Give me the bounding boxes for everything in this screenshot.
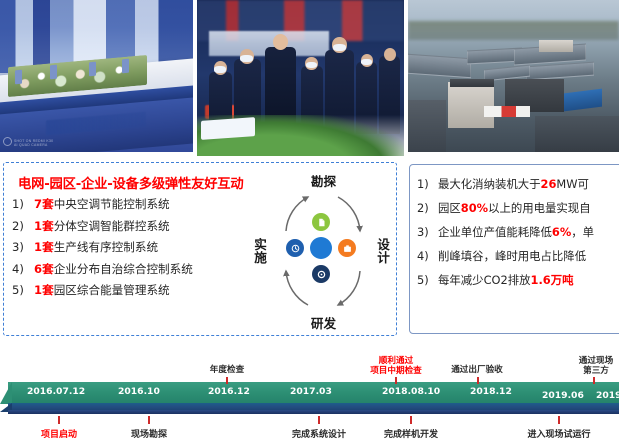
timeline-tick — [226, 377, 228, 384]
list-item: 1) 7 套 中央空调节能控制系统 — [12, 197, 262, 211]
node-navy-gear — [312, 265, 330, 283]
list-item-highlight: 26 — [541, 178, 557, 192]
timeline-date: 2019.06 — [542, 390, 584, 401]
camera-watermark-icon — [3, 137, 12, 146]
timeline-tick — [58, 416, 60, 424]
node-blue-clock — [286, 239, 304, 257]
list-item: 2) 1 套 分体空调智能群控系统 — [12, 219, 262, 233]
list-item-number: 2) — [417, 202, 438, 216]
timeline-phase-label: 现场勘探 — [124, 427, 174, 440]
list-item-text: 中央空调节能控制系统 — [54, 197, 170, 211]
list-item-unit: 套 — [42, 219, 54, 233]
list-item-highlight: 1.6万吨 — [531, 274, 574, 288]
delegation-visit-photo — [197, 0, 404, 156]
timeline-tick — [318, 416, 320, 424]
timeline-phase-label: 进入现场试运行 — [523, 427, 595, 440]
node-green-document — [312, 213, 330, 231]
timeline-date: 2019.1 — [596, 390, 619, 401]
list-item-pre: 削峰填谷，峰时用电占比降低 — [438, 250, 586, 264]
timeline-date: 2016.07.12 — [27, 386, 85, 397]
list-item-number: 4) — [417, 250, 438, 264]
left-panel-list: 1) 7 套 中央空调节能控制系统 2) 1 套 分体空调智能群控系统 3) 1… — [12, 197, 262, 305]
list-item-highlight: 6% — [552, 226, 571, 240]
timeline-milestone-label: 通过出厂验收 — [444, 366, 510, 376]
timeline-date: 2018.08.10 — [382, 386, 440, 397]
list-item-number: 5) — [417, 274, 438, 288]
left-panel-title: 电网-园区-企业-设备多级弹性友好互动 — [18, 173, 274, 192]
timeline-milestone-label: 通过现场 第三方 — [566, 357, 619, 377]
list-item-qty: 1 — [34, 219, 42, 233]
list-item: 3) 1 套 生产线有序控制系统 — [12, 240, 262, 254]
timeline-tick — [410, 416, 412, 424]
list-item: 4) 6 套 企业分布自治综合控制系统 — [12, 262, 262, 276]
timeline-phase-label: 完成系统设计 — [288, 427, 350, 440]
list-item-pre: 最大化消纳装机大于 — [438, 178, 541, 192]
list-item-qty: 1 — [34, 240, 42, 254]
list-item-number: 5) — [12, 283, 34, 297]
left-panel: 电网-园区-企业-设备多级弹性友好互动 1) 7 套 中央空调节能控制系统 2)… — [3, 162, 397, 336]
list-item-unit: 套 — [42, 240, 54, 254]
list-item: 2) 园区 80% 以上的用电量实现自 — [417, 202, 619, 216]
project-timeline: 2016.07.12 2016.10 2016.12 2017.03 2018.… — [0, 344, 619, 444]
list-item-pre: 每年减少CO2排放 — [438, 274, 531, 288]
cycle-label-left: 实施 — [254, 238, 267, 264]
list-item-number: 3) — [417, 226, 438, 240]
timeline-date: 2017.03 — [290, 386, 332, 397]
photo-watermark: SHOT ON REDMI K30AI QUAD CAMERA — [14, 139, 53, 148]
timeline-tick — [395, 377, 397, 384]
right-panel: 1) 最大化消纳装机大于 26 MW可 2) 园区 80% 以上的用电量实现自 … — [409, 164, 619, 334]
list-item: 5) 每年减少CO2排放 1.6万吨 — [417, 274, 619, 288]
list-item-number: 3) — [12, 240, 34, 254]
list-item-qty: 6 — [34, 262, 42, 276]
list-item-number: 1) — [417, 178, 438, 192]
timeline-tick — [558, 416, 560, 424]
list-item-highlight: 80% — [461, 202, 488, 216]
right-panel-list: 1) 最大化消纳装机大于 26 MW可 2) 园区 80% 以上的用电量实现自 … — [417, 178, 619, 298]
list-item-number: 4) — [12, 262, 34, 276]
list-item-text: 生产线有序控制系统 — [54, 240, 158, 254]
timeline-milestone-label: 年度检查 — [205, 366, 249, 376]
process-cycle-diagram: 勘探 设计 研发 实施 — [252, 169, 392, 333]
timeline-phase-label: 完成样机开发 — [380, 427, 442, 440]
list-item-pre: 园区 — [438, 202, 461, 216]
aerial-industrial-park-photo — [408, 0, 619, 152]
list-item-text: 分体空调智能群控系统 — [54, 219, 170, 233]
list-item-unit: 套 — [42, 262, 54, 276]
slide-root: SHOT ON REDMI K30AI QUAD CAMERA — [0, 0, 619, 444]
timeline-tick — [593, 377, 595, 384]
timeline-phase-label: 项目启动 — [34, 427, 84, 440]
list-item-number: 1) — [12, 197, 34, 211]
node-orange-briefcase — [338, 239, 356, 257]
list-item-unit: 套 — [42, 197, 54, 211]
timeline-date: 2016.10 — [118, 386, 160, 397]
timeline-shadow-lower — [8, 410, 619, 414]
timeline-date: 2018.12 — [470, 386, 512, 397]
list-item-post: ，单 — [571, 226, 594, 240]
list-item-unit: 套 — [42, 283, 54, 297]
list-item: 3) 企业单位产值能耗降低 6% ，单 — [417, 226, 619, 240]
timeline-milestone-label: 顺利通过 项目中期检查 — [363, 357, 429, 377]
list-item: 5) 1 套 园区综合能量管理系统 — [12, 283, 262, 297]
list-item-qty: 1 — [34, 283, 42, 297]
timeline-date: 2016.12 — [208, 386, 250, 397]
node-center-blue — [310, 237, 332, 259]
photo-row: SHOT ON REDMI K30AI QUAD CAMERA — [0, 0, 619, 156]
timeline-tick — [477, 377, 479, 384]
timeline-tick — [148, 416, 150, 424]
cycle-label-right: 设计 — [377, 238, 390, 264]
list-item-number: 2) — [12, 219, 34, 233]
list-item: 4) 削峰填谷，峰时用电占比降低 — [417, 250, 619, 264]
exhibition-hall-model-photo: SHOT ON REDMI K30AI QUAD CAMERA — [0, 0, 193, 152]
list-item-text: 企业分布自治综合控制系统 — [54, 262, 193, 276]
list-item-post: MW可 — [556, 178, 588, 192]
list-item: 1) 最大化消纳装机大于 26 MW可 — [417, 178, 619, 192]
list-item-qty: 7 — [34, 197, 42, 211]
list-item-pre: 企业单位产值能耗降低 — [438, 226, 552, 240]
list-item-post: 以上的用电量实现自 — [488, 202, 591, 216]
list-item-text: 园区综合能量管理系统 — [54, 283, 170, 297]
